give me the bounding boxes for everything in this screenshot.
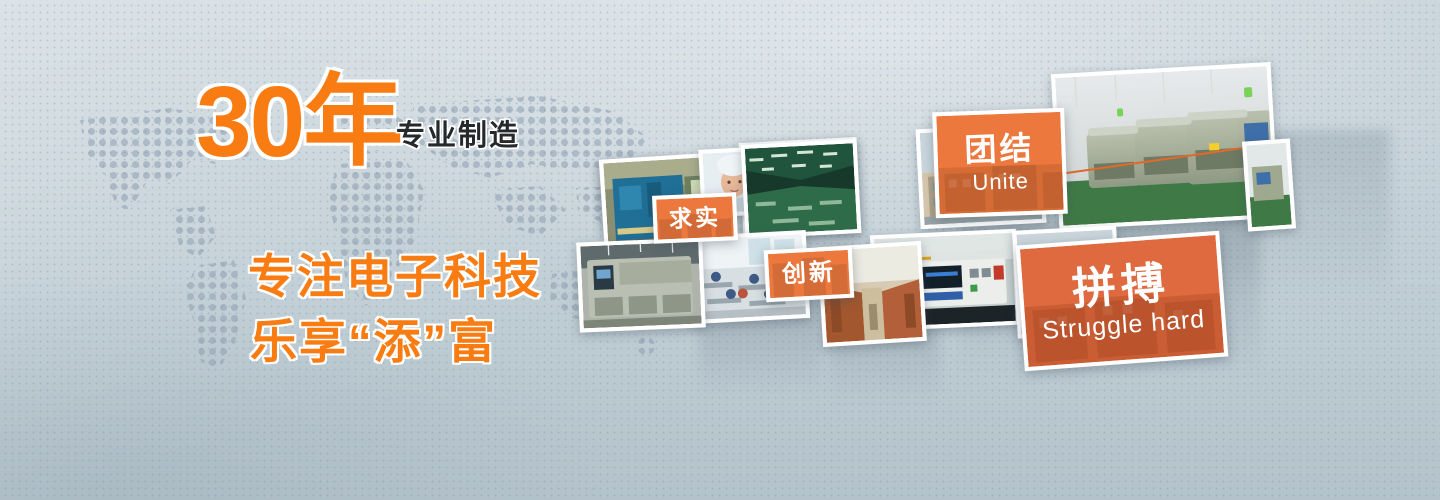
promo-banner: 求实 创新 [0, 0, 1440, 500]
badge-struggle-hard[interactable]: 拼搏 Struggle hard [1016, 231, 1229, 372]
badge-label-cn: 创新 [781, 260, 836, 288]
slogan-line-2: 乐享“添”富 [250, 303, 497, 372]
photo-assembly-hall [741, 139, 862, 239]
badge-label-en: Unite [972, 169, 1029, 194]
badge-label-cn: 拼搏 [1070, 260, 1171, 313]
badge-qiushi[interactable]: 求实 [652, 192, 738, 244]
headline-tagline: 专业制造 [396, 112, 520, 154]
badge-label-cn: 求实 [668, 205, 721, 231]
photo-smt-line [1242, 138, 1296, 231]
slogan-line-1: 专注电子科技 [248, 238, 542, 307]
badge-label-cn: 团结 [964, 131, 1035, 167]
badge-unite[interactable]: 团结 Unite [932, 108, 1068, 219]
badge-chuangxin[interactable]: 创新 [764, 246, 855, 303]
photo-reflow-oven [576, 237, 706, 332]
headline-years: 30年 [196, 72, 401, 172]
